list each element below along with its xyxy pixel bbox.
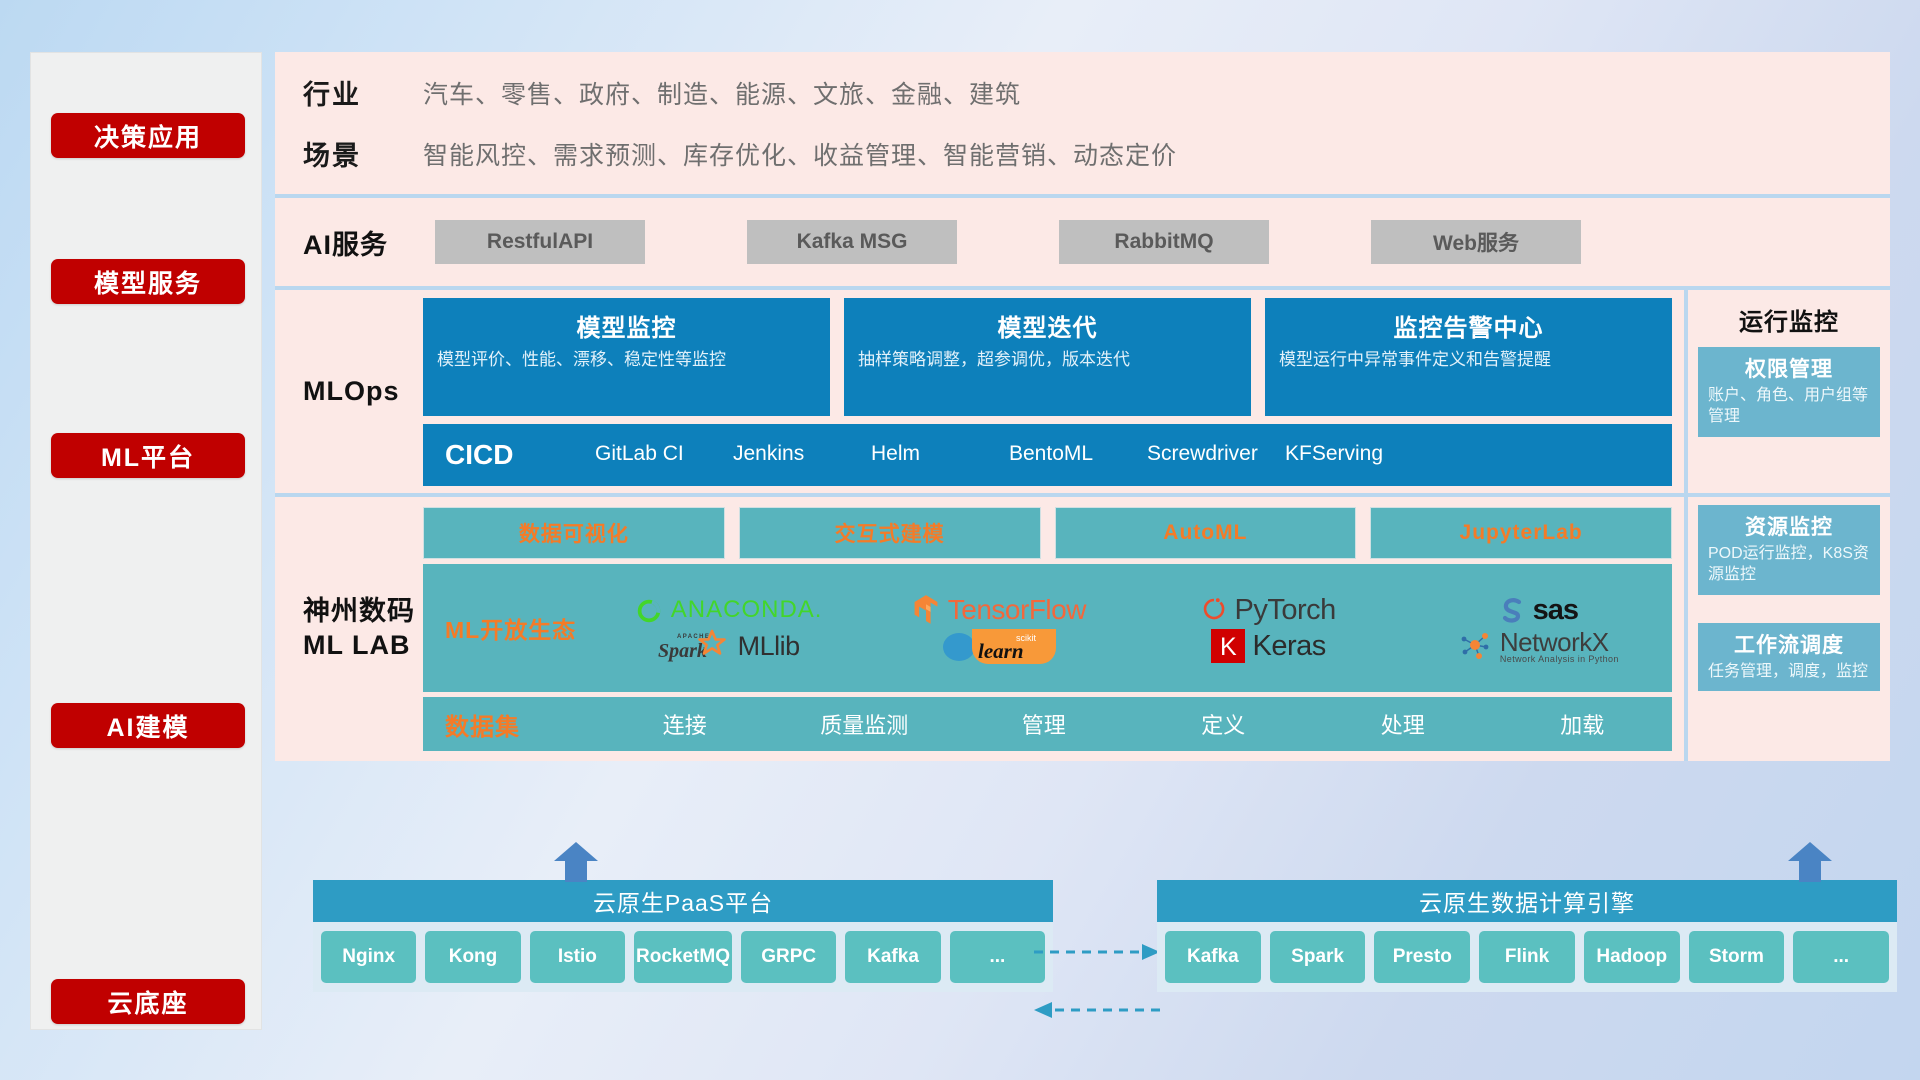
cloud-chip-flink[interactable]: Flink (1479, 931, 1575, 983)
svg-text:Spark: Spark (658, 640, 707, 662)
dataset-item-process[interactable]: 处理 (1313, 708, 1493, 740)
svg-text:K: K (1220, 633, 1237, 661)
industry-values: 汽车、零售、政府、制造、能源、文旅、金融、建筑 (423, 75, 1021, 111)
ai-service-label: AI服务 (303, 223, 423, 262)
dataset-item-manage[interactable]: 管理 (954, 708, 1134, 740)
cloud-chip-rocketmq[interactable]: RocketMQ (634, 931, 732, 983)
cloud-data-engine-title: 云原生数据计算引擎 (1157, 880, 1897, 922)
cicd-item-helm[interactable]: Helm (871, 442, 1009, 466)
ai-service-chip-web[interactable]: Web服务 (1371, 220, 1581, 264)
monitoring-card-resource[interactable]: 资源监控 POD运行监控，K8S资源监控 (1698, 505, 1880, 595)
card-title: 模型迭代 (858, 308, 1237, 343)
cloud-chip-nginx[interactable]: Nginx (321, 931, 416, 983)
pytorch-icon (1201, 595, 1227, 625)
scikit-learn-icon: scikit learn (972, 628, 1056, 664)
networkx-icon (1459, 630, 1493, 662)
arrow-up-paas-icon (553, 842, 599, 882)
card-desc: 模型运行中异常事件定义和告警提醒 (1279, 349, 1658, 372)
sidebar-item-ml-platform[interactable]: ML平台 (51, 433, 245, 478)
arrow-up-data-icon (1787, 842, 1833, 882)
cloud-paas-group: 云原生PaaS平台 Nginx Kong Istio RocketMQ GRPC… (313, 880, 1053, 992)
architecture-stack: 行业 汽车、零售、政府、制造、能源、文旅、金融、建筑 场景 智能风控、需求预测、… (275, 52, 1890, 761)
cloud-paas-title: 云原生PaaS平台 (313, 880, 1053, 922)
section-ml-platform: MLOps 模型监控 模型评价、性能、漂移、稳定性等监控 模型迭代 抽样策略调整… (275, 286, 1890, 493)
industry-row: 行业 汽车、零售、政府、制造、能源、文旅、金融、建筑 (303, 73, 1890, 112)
mlops-card-model-monitoring[interactable]: 模型监控 模型评价、性能、漂移、稳定性等监控 (423, 298, 830, 416)
cicd-item-bentoml[interactable]: BentoML (1009, 442, 1147, 466)
ml-lab-line2: ML LAB (303, 630, 411, 660)
anaconda-icon (634, 595, 664, 625)
sidebar-item-model-service[interactable]: 模型服务 (51, 259, 245, 304)
ai-service-chip-restfulapi[interactable]: RestfulAPI (435, 220, 645, 264)
cicd-item-kfserving[interactable]: KFServing (1285, 442, 1423, 466)
ml-lab-line1: 神州数码 (303, 596, 415, 626)
cloud-data-engine-group: 云原生数据计算引擎 Kafka Spark Presto Flink Hadoo… (1157, 880, 1897, 992)
bidirectional-connectors (1030, 938, 1164, 1030)
ml-open-ecosystem-label: ML开放生态 (445, 611, 595, 645)
tensorflow-icon (911, 594, 941, 626)
monitoring-card-workflow[interactable]: 工作流调度 任务管理，调度，监控 (1698, 623, 1880, 692)
spark-icon: APACHE Spark (657, 629, 731, 663)
anaconda-wordmark: ANACONDA. (671, 596, 823, 624)
sidebar-item-decision-app[interactable]: 决策应用 (51, 113, 245, 158)
dataset-title: 数据集 (445, 707, 595, 742)
svg-text:learn: learn (978, 639, 1024, 663)
card-title: 工作流调度 (1708, 629, 1870, 659)
card-desc: 账户、角色、用户组等管理 (1708, 386, 1870, 428)
scikit-learn-logo: scikit learn (941, 628, 1056, 664)
tool-chip-jupyterlab[interactable]: JupyterLab (1370, 507, 1672, 559)
scenario-label: 场景 (303, 134, 423, 173)
cloud-chip-more-data[interactable]: ... (1793, 931, 1889, 983)
card-desc: POD运行监控，K8S资源监控 (1708, 544, 1870, 586)
monitoring-card-permission[interactable]: 权限管理 账户、角色、用户组等管理 (1698, 347, 1880, 437)
pytorch-wordmark: PyTorch (1234, 594, 1335, 627)
section-cloud-base: 云原生PaaS平台 Nginx Kong Istio RocketMQ GRPC… (0, 880, 1920, 1080)
dataset-item-load[interactable]: 加载 (1493, 708, 1673, 740)
cloud-chip-spark[interactable]: Spark (1270, 931, 1366, 983)
tool-chip-data-visualization[interactable]: 数据可视化 (423, 507, 725, 559)
cicd-item-screwdriver[interactable]: Screwdriver (1147, 442, 1285, 466)
cicd-bar: CICD GitLab CI Jenkins Helm BentoML Scre… (423, 424, 1672, 486)
cloud-chip-presto[interactable]: Presto (1374, 931, 1470, 983)
dataset-item-quality-monitor[interactable]: 质量监测 (775, 708, 955, 740)
dataset-item-define[interactable]: 定义 (1134, 708, 1314, 740)
cloud-chip-istio[interactable]: Istio (530, 931, 625, 983)
cicd-item-jenkins[interactable]: Jenkins (733, 442, 871, 466)
tool-chip-interactive-modeling[interactable]: 交互式建模 (739, 507, 1041, 559)
tensorflow-wordmark: TensorFlow (948, 594, 1086, 626)
cicd-item-gitlab-ci[interactable]: GitLab CI (595, 442, 733, 466)
section-ai-modeling: 神州数码 ML LAB 数据可视化 交互式建模 AutoML JupyterLa… (275, 493, 1890, 761)
card-desc: 抽样策略调整，超参调优，版本迭代 (858, 349, 1237, 372)
cloud-chip-kong[interactable]: Kong (425, 931, 520, 983)
ml-lab-label: 神州数码 ML LAB (303, 595, 423, 663)
sas-icon (1500, 596, 1526, 624)
card-desc: 任务管理，调度，监控 (1708, 662, 1870, 683)
sas-wordmark: sas (1533, 594, 1578, 627)
scenario-values: 智能风控、需求预测、库存优化、收益管理、智能营销、动态定价 (423, 136, 1177, 172)
cloud-data-engine-tray: Kafka Spark Presto Flink Hadoop Storm ..… (1157, 922, 1897, 992)
sidebar-item-ai-modeling[interactable]: AI建模 (51, 703, 245, 748)
keras-wordmark: Keras (1252, 630, 1325, 663)
cicd-title: CICD (445, 439, 595, 471)
anaconda-logo: ANACONDA. (634, 595, 823, 625)
monitoring-title: 运行监控 (1698, 298, 1880, 347)
sas-logo: sas (1500, 594, 1578, 627)
cloud-chip-kafka[interactable]: Kafka (845, 931, 940, 983)
card-title: 权限管理 (1708, 353, 1870, 383)
dataset-bar: 数据集 连接 质量监测 管理 定义 处理 加载 (423, 697, 1672, 751)
mlops-label: MLOps (303, 376, 423, 407)
industry-label: 行业 (303, 73, 423, 112)
cloud-paas-tray: Nginx Kong Istio RocketMQ GRPC Kafka ... (313, 922, 1053, 992)
pytorch-logo: PyTorch (1201, 594, 1335, 627)
mlops-card-alert-center[interactable]: 监控告警中心 模型运行中异常事件定义和告警提醒 (1265, 298, 1672, 416)
networkx-logo: NetworkX Network Analysis in Python (1459, 629, 1619, 664)
networkx-wordmark: NetworkX (1500, 629, 1619, 655)
card-title: 监控告警中心 (1279, 308, 1658, 343)
monitoring-rail: 运行监控 权限管理 账户、角色、用户组等管理 (1684, 290, 1890, 493)
cloud-chip-grpc[interactable]: GRPC (741, 931, 836, 983)
ai-service-chip-rabbitmq[interactable]: RabbitMQ (1059, 220, 1269, 264)
mlops-card-model-iteration[interactable]: 模型迭代 抽样策略调整，超参调优，版本迭代 (844, 298, 1251, 416)
ml-open-ecosystem-band: ML开放生态 ANACONDA. (423, 564, 1672, 692)
section-decision-applications: 行业 汽车、零售、政府、制造、能源、文旅、金融、建筑 场景 智能风控、需求预测、… (275, 52, 1890, 194)
monitoring-rail-lower: 资源监控 POD运行监控，K8S资源监控 工作流调度 任务管理，调度，监控 (1684, 497, 1890, 761)
tool-chip-automl[interactable]: AutoML (1055, 507, 1357, 559)
keras-logo: K Keras (1211, 629, 1325, 663)
scenario-row: 场景 智能风控、需求预测、库存优化、收益管理、智能营销、动态定价 (303, 134, 1890, 173)
arrow-left-icon (1034, 1002, 1052, 1018)
tensorflow-logo: TensorFlow (911, 594, 1086, 626)
card-desc: 模型评价、性能、漂移、稳定性等监控 (437, 349, 816, 372)
cloud-chip-kafka-data[interactable]: Kafka (1165, 931, 1261, 983)
mllib-wordmark: MLlib (738, 631, 800, 662)
spark-mllib-logo: APACHE Spark MLlib (657, 629, 800, 663)
keras-icon: K (1211, 629, 1245, 663)
cloud-chip-storm[interactable]: Storm (1689, 931, 1785, 983)
dataset-item-connect[interactable]: 连接 (595, 708, 775, 740)
networkx-wordmark-block: NetworkX Network Analysis in Python (1500, 629, 1619, 664)
section-model-service: AI服务 RestfulAPI Kafka MSG RabbitMQ Web服务 (275, 194, 1890, 286)
cloud-chip-hadoop[interactable]: Hadoop (1584, 931, 1680, 983)
card-title: 资源监控 (1708, 511, 1870, 541)
ai-service-chip-kafka-msg[interactable]: Kafka MSG (747, 220, 957, 264)
networkx-tagline: Network Analysis in Python (1500, 655, 1619, 664)
card-title: 模型监控 (437, 308, 816, 343)
